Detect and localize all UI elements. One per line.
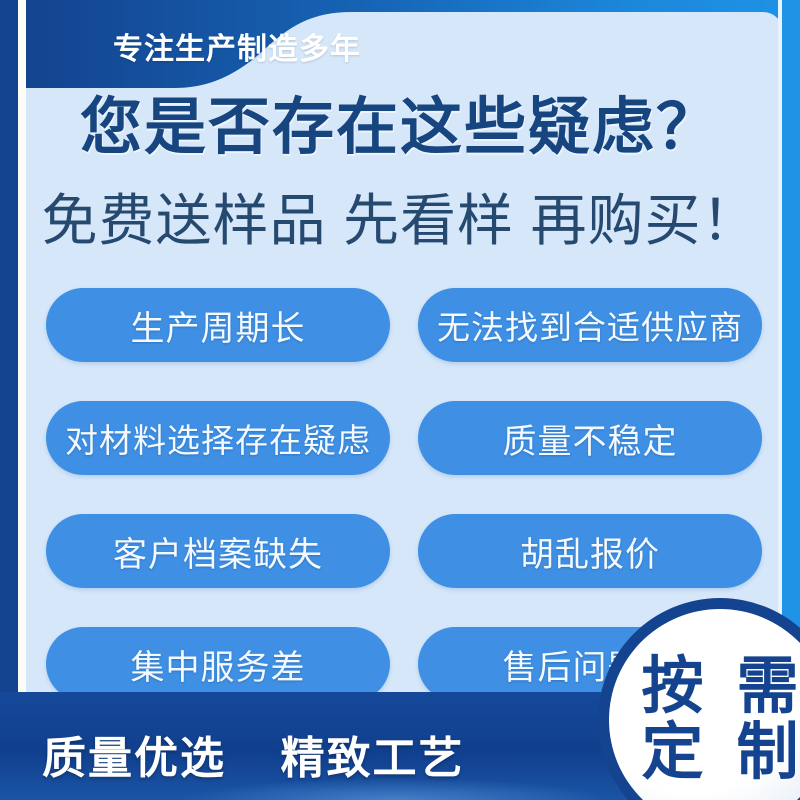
concern-pill[interactable]: 胡乱报价 bbox=[418, 514, 762, 588]
concern-pill-label: 对材料选择存在疑虑 bbox=[65, 414, 371, 462]
concern-pill[interactable]: 无法找到合适供应商 bbox=[418, 288, 762, 362]
concern-pill[interactable]: 对材料选择存在疑虑 bbox=[46, 401, 390, 475]
page-subtitle: 免费送样品 先看样 再购买！ bbox=[0, 176, 800, 257]
concern-pill-label: 生产周期长 bbox=[131, 301, 306, 350]
footer-slogan-right: 精致工艺 bbox=[280, 734, 464, 783]
custom-order-badge-text: 按 需 定 制 bbox=[625, 655, 800, 786]
concern-pill-label: 无法找到合适供应商 bbox=[437, 301, 743, 349]
concern-pill-label: 胡乱报价 bbox=[520, 527, 660, 576]
concern-pill[interactable]: 质量不稳定 bbox=[418, 401, 762, 475]
concern-pill[interactable]: 客户档案缺失 bbox=[46, 514, 390, 588]
badge-char-2: 需 bbox=[736, 655, 798, 719]
concern-pill[interactable]: 集中服务差 bbox=[46, 627, 390, 701]
concern-pill-label: 集中服务差 bbox=[131, 640, 306, 689]
header-tagline: 专注生产制造多年 bbox=[113, 24, 361, 68]
concern-pill-label: 质量不稳定 bbox=[503, 414, 678, 463]
badge-char-4: 制 bbox=[736, 721, 798, 785]
concern-pill-label: 客户档案缺失 bbox=[113, 527, 323, 576]
promo-banner: 专注生产制造多年 您是否存在这些疑虑？ 免费送样品 先看样 再购买！ 生产周期长… bbox=[0, 0, 800, 800]
page-title: 您是否存在这些疑虑？ bbox=[0, 76, 800, 166]
footer-slogan-left: 质量优选 bbox=[42, 734, 226, 783]
badge-char-3: 定 bbox=[641, 721, 703, 785]
footer-slogan: 质量优选 精致工艺 bbox=[42, 722, 464, 786]
badge-char-1: 按 bbox=[641, 655, 703, 719]
custom-order-badge-face: 按 需 定 制 bbox=[609, 609, 800, 800]
concern-pill[interactable]: 生产周期长 bbox=[46, 288, 390, 362]
